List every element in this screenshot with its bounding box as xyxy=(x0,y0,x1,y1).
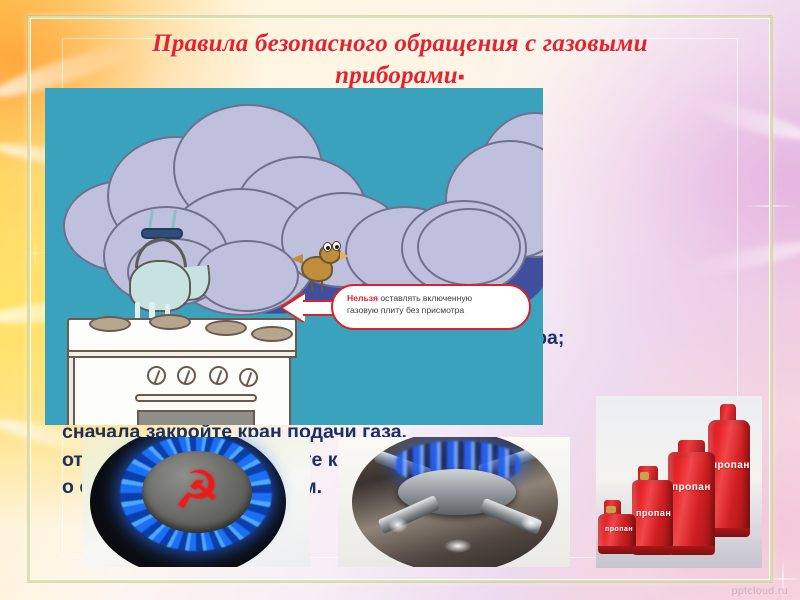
stove-burner xyxy=(205,320,247,336)
cylinder-base xyxy=(632,546,673,555)
stove-control-knob xyxy=(177,366,196,385)
bird-tail xyxy=(291,254,303,264)
callout-arrow-icon xyxy=(283,294,305,322)
oven-door-window xyxy=(137,410,255,425)
cartoon-gas-stove-illustration: Нельзя оставлять включенную газовую плит… xyxy=(45,88,543,425)
warning-callout-emphasis: Нельзя xyxy=(347,293,378,303)
cylinder-base xyxy=(668,546,715,555)
smoke-cloud xyxy=(417,208,521,286)
stove-control-knob xyxy=(209,366,228,385)
photo-propane-cylinders: пропан пропан пропан пропан xyxy=(596,396,762,568)
cylinder-valve xyxy=(606,506,616,513)
photo-gas-burner-with-emblem: ☭ xyxy=(82,437,310,567)
cylinder-label: пропан xyxy=(636,508,671,518)
metal-highlight xyxy=(520,515,542,531)
metal-highlight xyxy=(388,517,408,533)
cylinder-valve xyxy=(640,472,649,480)
slide-title: Правила безопасного обращения с газовыми… xyxy=(60,28,740,94)
slide-title-line-2: приборами xyxy=(335,62,458,89)
cylinder-label: пропан xyxy=(672,482,711,493)
warning-callout-line-1: оставлять включенную xyxy=(378,293,472,303)
cylinder-base xyxy=(598,546,636,554)
stove-control-knob xyxy=(147,366,166,385)
cylinder-label: пропан xyxy=(711,460,750,471)
warning-callout-bubble: Нельзя оставлять включенную газовую плит… xyxy=(331,284,531,330)
burner-dark-background: ☭ xyxy=(90,437,286,567)
slide-title-line-1: Правила безопасного обращения с газовыми xyxy=(152,30,647,57)
bird-leg xyxy=(311,280,313,292)
warning-callout-line-2: газовую плиту без присмотра xyxy=(347,305,464,315)
stove-control-knob xyxy=(239,368,258,387)
cylinder-label: пропан xyxy=(605,526,633,533)
stove-burner xyxy=(89,316,131,332)
photo-stainless-steel-burner xyxy=(338,437,570,567)
source-watermark: pptcloud.ru xyxy=(732,585,788,597)
cylinder-body xyxy=(668,452,715,554)
bird-beak xyxy=(340,252,349,260)
slide-canvas: Правила безопасного обращения с газовыми… xyxy=(0,0,800,600)
bird-eye xyxy=(332,241,341,251)
light-streak-decoration xyxy=(690,94,800,146)
burner-oval-crop xyxy=(352,437,558,567)
russian-eagle-emblem-icon: ☭ xyxy=(154,461,240,523)
sparkle-icon xyxy=(742,178,798,234)
slide-title-dot: ▪ xyxy=(458,67,465,88)
stove-burner xyxy=(251,326,293,342)
oven-door-handle xyxy=(135,394,257,402)
metal-highlight xyxy=(444,539,472,553)
stove-burner xyxy=(149,314,191,330)
bird-eye xyxy=(323,242,332,252)
